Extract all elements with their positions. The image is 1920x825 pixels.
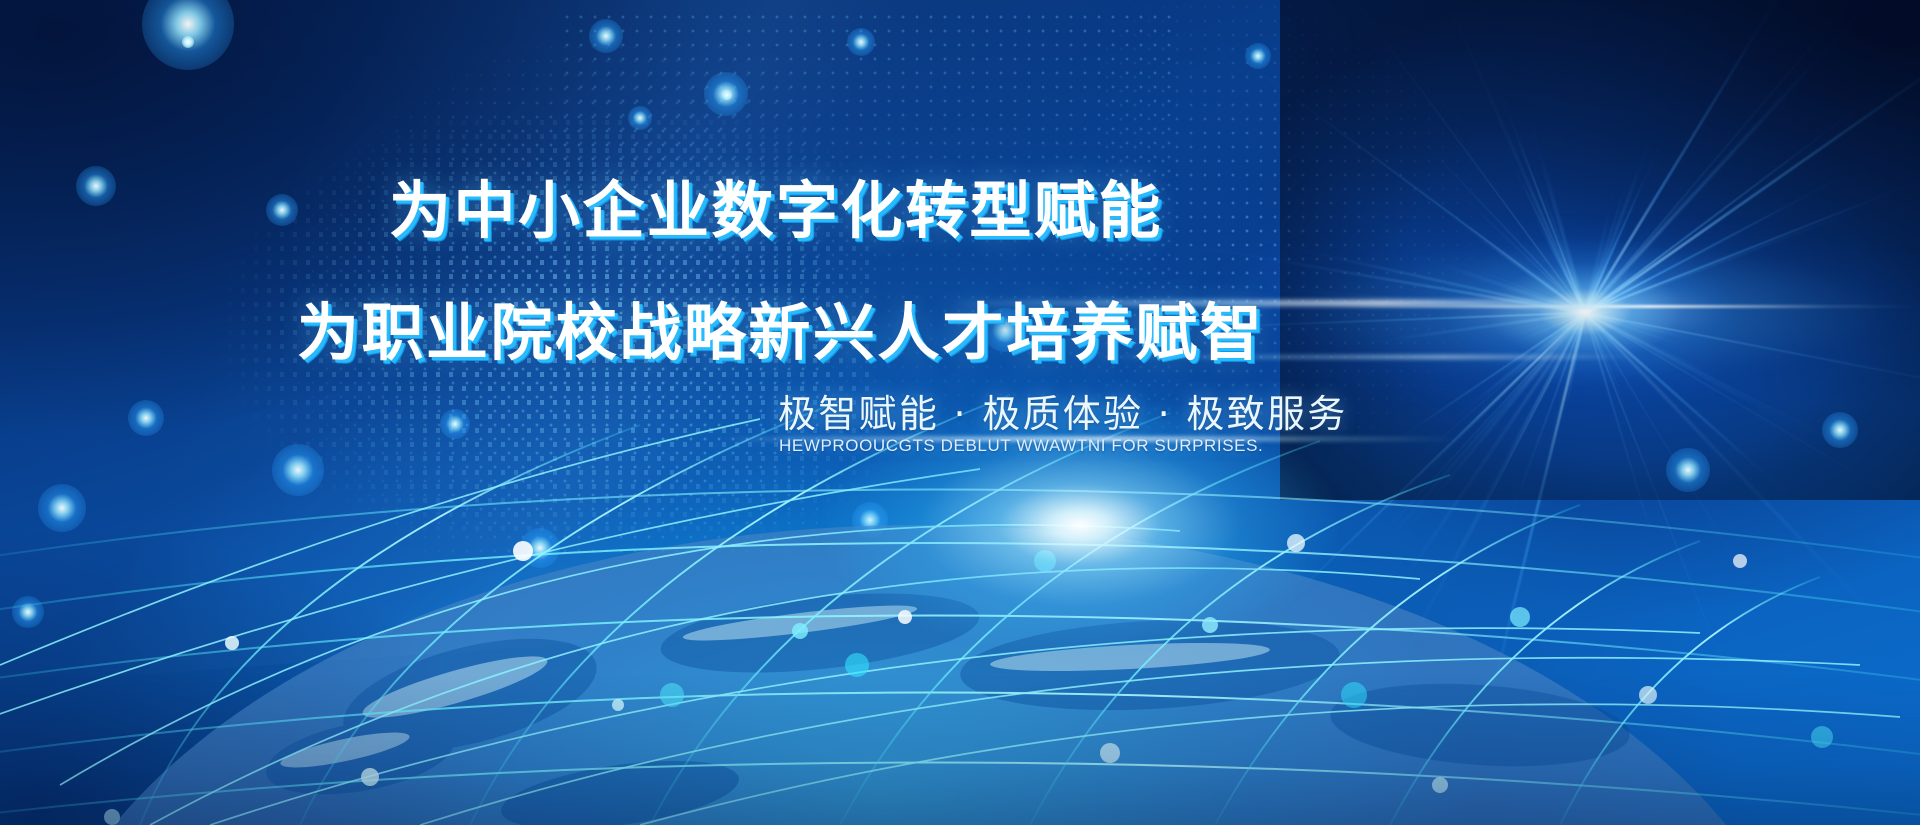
headline-line-1: 为中小企业数字化转型赋能 (389, 160, 1163, 250)
english-subtitle: HEWPROOUCGTS DEBLUT WWAWTNI FOR SURPRISE… (779, 436, 1263, 456)
text-layer: 为中小企业数字化转型赋能 为职业院校战略新兴人才培养赋智 极智赋能 · 极质体验… (0, 0, 1920, 825)
headline-line-2: 为职业院校战略新兴人才培养赋智 (297, 282, 1264, 372)
promo-banner: 为中小企业数字化转型赋能 为职业院校战略新兴人才培养赋智 极智赋能 · 极质体验… (0, 0, 1920, 825)
tagline: 极智赋能 · 极质体验 · 极致服务 (778, 383, 1348, 438)
